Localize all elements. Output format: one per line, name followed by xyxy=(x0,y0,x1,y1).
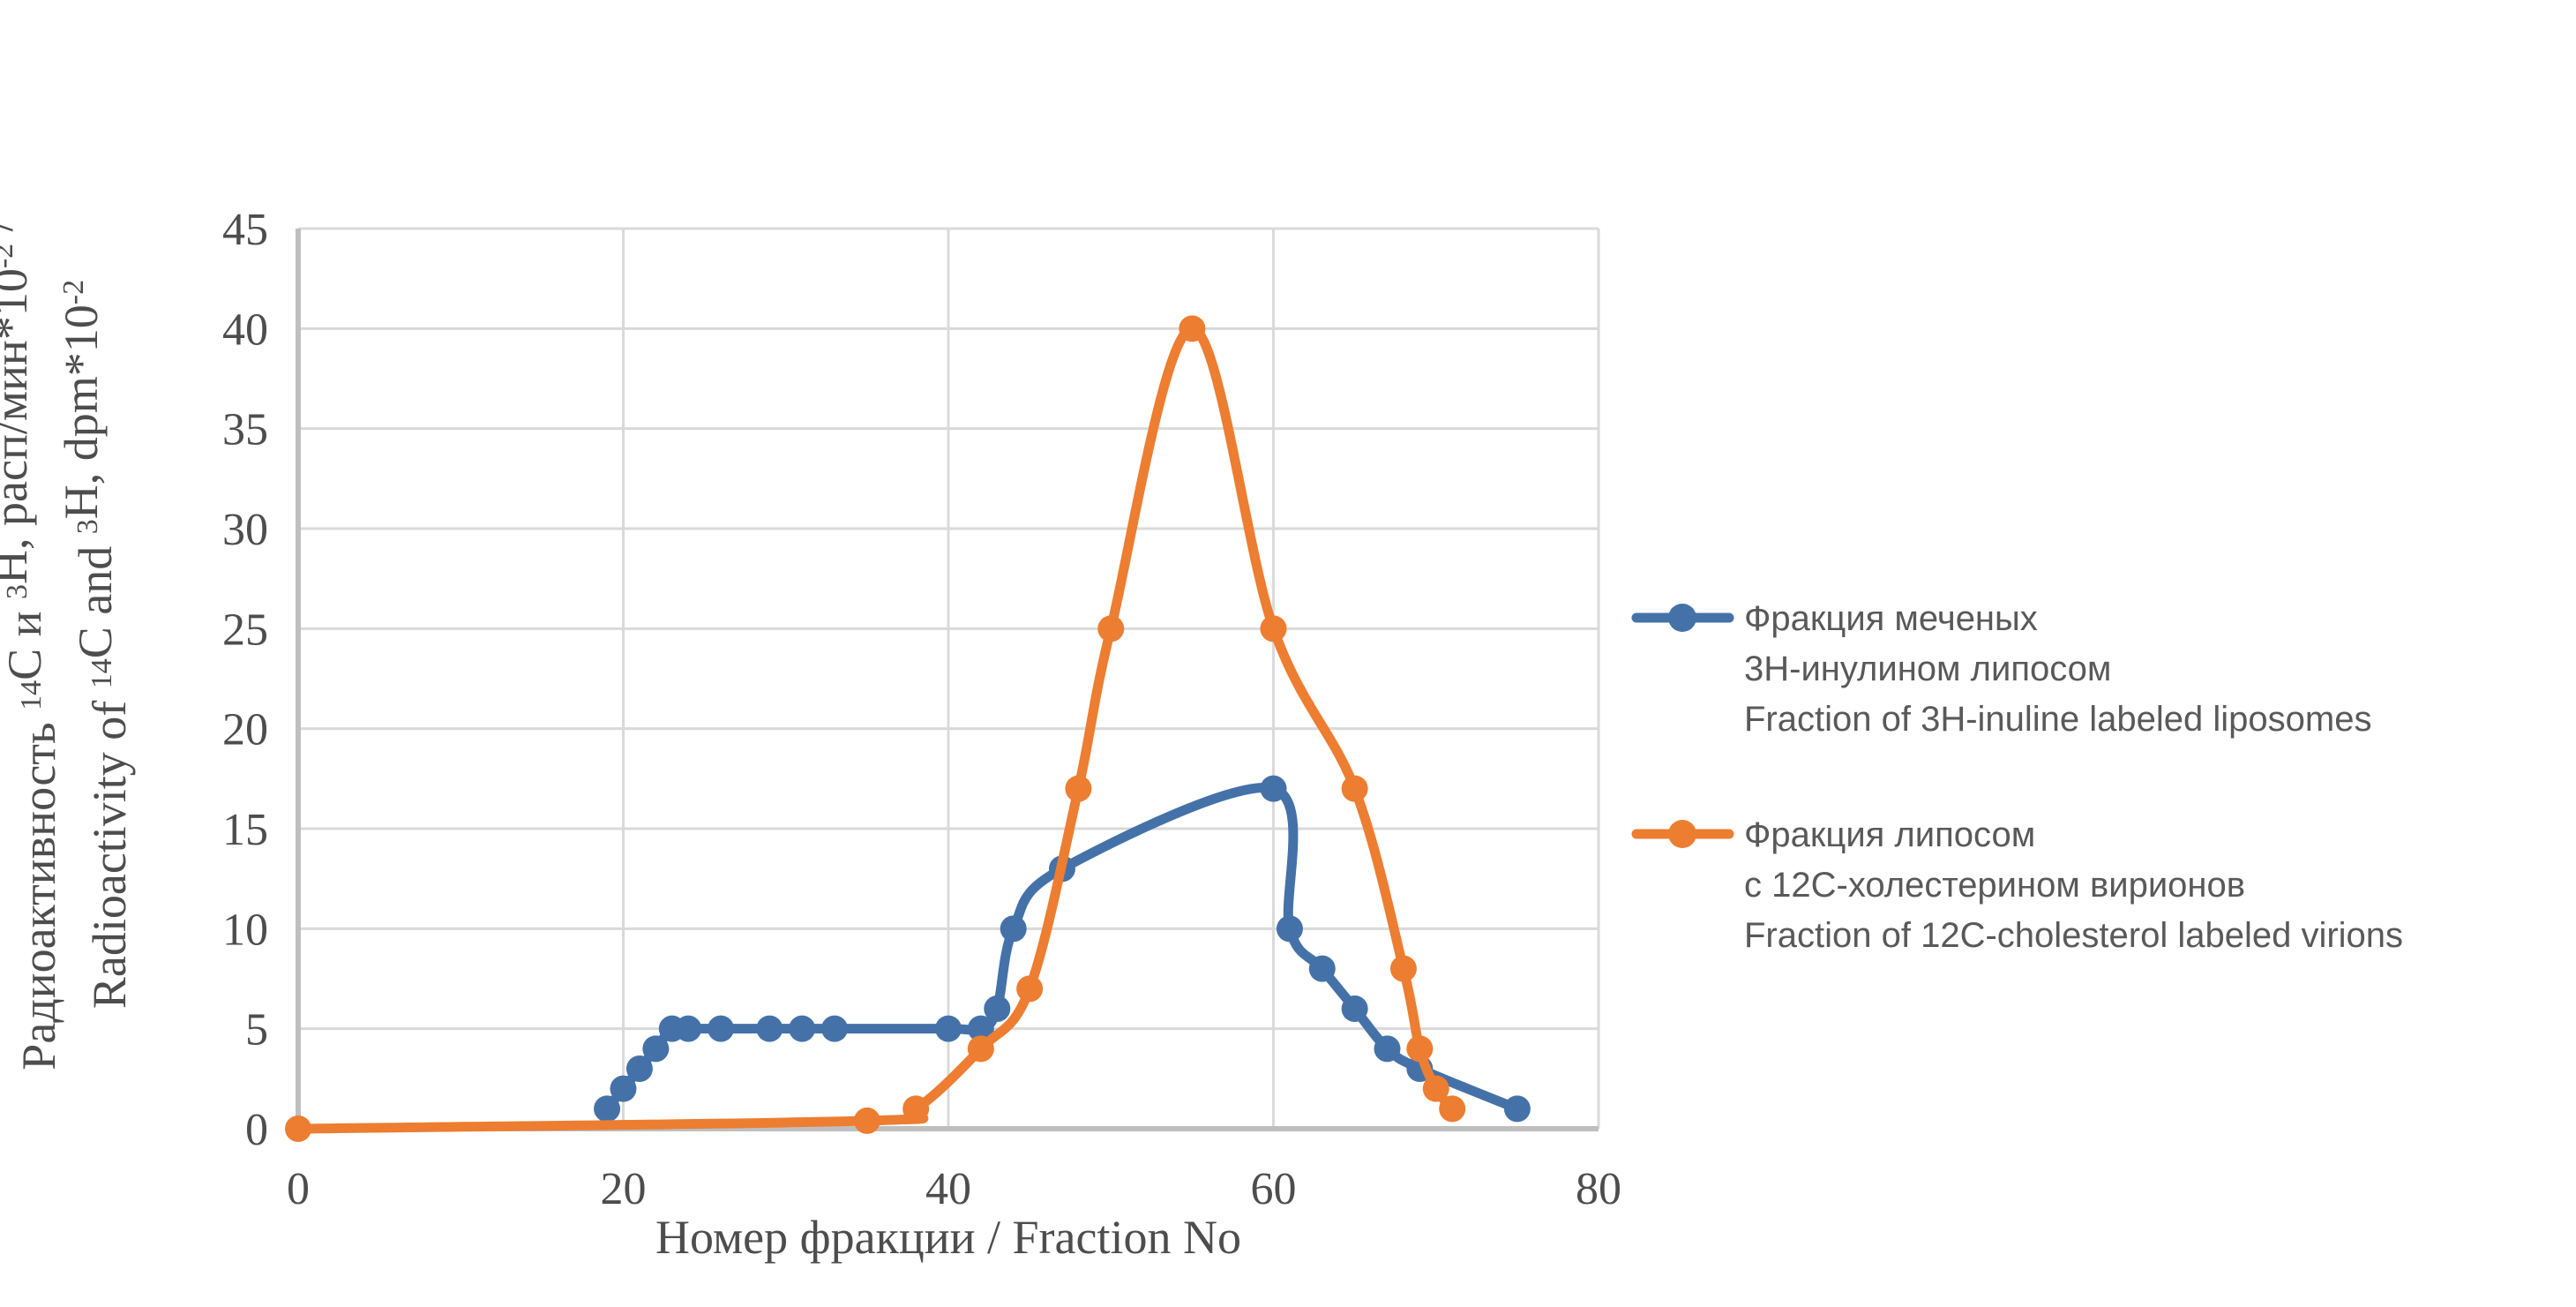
data-point-marker xyxy=(789,1016,815,1042)
y-tick-label: 10 xyxy=(222,905,268,955)
line-chart: 051015202530354045 020406080 Радиоактивн… xyxy=(0,0,2576,1303)
data-point-marker xyxy=(968,1035,994,1062)
x-tick-label: 60 xyxy=(1251,1164,1297,1214)
data-point-marker xyxy=(1374,1035,1400,1062)
y-tick-label: 5 xyxy=(245,1005,268,1055)
data-point-marker xyxy=(1342,995,1368,1022)
data-point-marker xyxy=(756,1016,783,1042)
legend-label-line: 3H-инулином липосом xyxy=(1744,650,2111,688)
x-tick-label: 20 xyxy=(601,1164,647,1214)
data-point-marker xyxy=(1261,776,1287,802)
x-tick-label: 40 xyxy=(925,1164,971,1214)
y-tick-label: 0 xyxy=(245,1105,268,1155)
data-point-marker xyxy=(285,1115,311,1142)
data-point-marker xyxy=(1065,776,1091,802)
legend-label-line: Fraction of 12C-cholesterol labeled viri… xyxy=(1744,916,2403,955)
y-tick-label: 45 xyxy=(222,205,268,255)
y-tick-label: 40 xyxy=(222,304,268,355)
data-point-marker xyxy=(1406,1035,1433,1062)
data-point-marker xyxy=(1309,956,1336,982)
y-tick-label: 15 xyxy=(222,805,268,855)
y-tick-label: 30 xyxy=(222,505,268,555)
x-tick-label: 0 xyxy=(287,1164,310,1214)
x-tick-label: 80 xyxy=(1576,1164,1621,1214)
data-point-marker xyxy=(1000,915,1027,942)
legend-label-line: Fraction of 3H-inuline labeled liposomes xyxy=(1744,700,2371,739)
chart-background xyxy=(0,0,2576,1303)
data-point-marker xyxy=(708,1016,734,1042)
legend-label-line: с 12C-холестерином вирионов xyxy=(1744,866,2245,905)
data-point-marker xyxy=(1439,1095,1465,1122)
data-point-marker xyxy=(854,1108,880,1134)
data-point-marker xyxy=(1261,615,1287,642)
data-point-marker xyxy=(984,995,1010,1022)
data-point-marker xyxy=(902,1095,929,1122)
data-point-marker xyxy=(821,1016,848,1042)
y-tick-label: 20 xyxy=(222,705,268,755)
y-tick-label: 25 xyxy=(222,605,268,655)
data-point-marker xyxy=(1504,1095,1531,1122)
legend-marker-icon xyxy=(1668,820,1696,848)
x-axis-title-label: Номер фракции / Fraction No xyxy=(655,1211,1241,1264)
data-point-marker xyxy=(1016,975,1043,1002)
data-point-marker xyxy=(1097,615,1124,642)
data-point-marker xyxy=(1390,956,1417,982)
y-tick-label: 35 xyxy=(222,405,268,455)
data-point-marker xyxy=(675,1016,701,1042)
data-point-marker xyxy=(935,1016,962,1042)
data-point-marker xyxy=(1179,315,1205,342)
chart-container: 051015202530354045 020406080 Радиоактивн… xyxy=(0,0,2576,1303)
data-point-marker xyxy=(1342,776,1368,802)
data-point-marker xyxy=(1277,915,1303,942)
legend-label-line: Фракция липосом xyxy=(1744,815,2035,854)
legend-label-line: Фракция меченых xyxy=(1744,599,2038,638)
legend-marker-icon xyxy=(1668,604,1696,632)
